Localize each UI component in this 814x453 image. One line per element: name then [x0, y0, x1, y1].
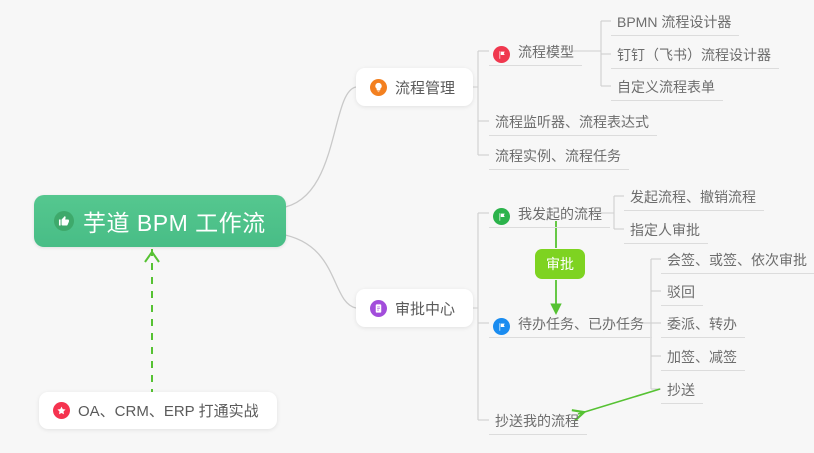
leaf-label: 流程模型: [518, 45, 574, 63]
leaf-node-bpmn-designer[interactable]: BPMN 流程设计器: [611, 6, 739, 36]
flow-tag-label: 审批: [546, 254, 574, 274]
leaf-node-dingtalk-designer[interactable]: 钉钉（飞书）流程设计器: [611, 39, 779, 69]
leaf-label: 钉钉（飞书）流程设计器: [617, 48, 771, 66]
leaf-node-cc-to-me[interactable]: 抄送我的流程: [489, 405, 587, 435]
leaf-label: 加签、减签: [667, 350, 737, 368]
leaf-node-listener-expression[interactable]: 流程监听器、流程表达式: [489, 106, 657, 136]
leaf-node-add-remove-sign[interactable]: 加签、减签: [661, 341, 745, 371]
star-icon: [53, 402, 70, 419]
flag-icon: [493, 46, 510, 63]
branch-node-approval-center[interactable]: 审批中心: [356, 289, 473, 327]
leaf-label: 委派、转办: [667, 317, 737, 335]
leaf-node-process-model[interactable]: 流程模型: [489, 36, 582, 66]
leaf-node-my-initiated-process[interactable]: 我发起的流程: [489, 198, 610, 228]
branch-node-process-management[interactable]: 流程管理: [356, 68, 473, 106]
leaf-node-cc[interactable]: 抄送: [661, 374, 703, 404]
leaf-node-delegate-transfer[interactable]: 委派、转办: [661, 308, 745, 338]
leaf-label: 流程实例、流程任务: [495, 149, 621, 167]
branch-label: 审批中心: [395, 298, 455, 319]
leaf-label: 驳回: [667, 285, 695, 303]
leaf-node-countersign[interactable]: 会签、或签、依次审批: [661, 244, 814, 274]
leaf-label: 抄送我的流程: [495, 414, 579, 432]
leaf-node-assignee-approval[interactable]: 指定人审批: [624, 214, 708, 244]
leaf-node-instance-task[interactable]: 流程实例、流程任务: [489, 140, 629, 170]
flag-icon: [493, 318, 510, 335]
leaf-node-reject[interactable]: 驳回: [661, 276, 703, 306]
mindmap-canvas[interactable]: 芋道 BPM 工作流 流程管理 流程模型 BPMN 流程设计器 钉钉（飞书）流程…: [0, 0, 814, 453]
lightbulb-icon: [370, 79, 387, 96]
leaf-label: 我发起的流程: [518, 207, 602, 225]
flag-icon: [493, 208, 510, 225]
leaf-label: BPMN 流程设计器: [617, 15, 731, 33]
leaf-node-todo-done-tasks[interactable]: 待办任务、已办任务: [489, 308, 652, 338]
leaf-label: 抄送: [667, 383, 695, 401]
branch-label: 流程管理: [395, 77, 455, 98]
leaf-label: 指定人审批: [630, 223, 700, 241]
root-label: 芋道 BPM 工作流: [83, 204, 266, 238]
leaf-label: 会签、或签、依次审批: [667, 253, 807, 271]
leaf-label: 待办任务、已办任务: [518, 317, 644, 335]
root-node[interactable]: 芋道 BPM 工作流: [34, 195, 286, 247]
leaf-node-start-cancel-process[interactable]: 发起流程、撤销流程: [624, 181, 764, 211]
thumbs-up-icon: [54, 211, 74, 231]
leaf-label: 发起流程、撤销流程: [630, 190, 756, 208]
leaf-label: 自定义流程表单: [617, 80, 715, 98]
callout-label: OA、CRM、ERP 打通实战: [78, 400, 259, 421]
clipboard-icon: [370, 300, 387, 317]
leaf-node-custom-form[interactable]: 自定义流程表单: [611, 71, 723, 101]
callout-node-integration[interactable]: OA、CRM、ERP 打通实战: [39, 392, 277, 429]
flow-tag-approval[interactable]: 审批: [535, 249, 585, 279]
leaf-label: 流程监听器、流程表达式: [495, 115, 649, 133]
